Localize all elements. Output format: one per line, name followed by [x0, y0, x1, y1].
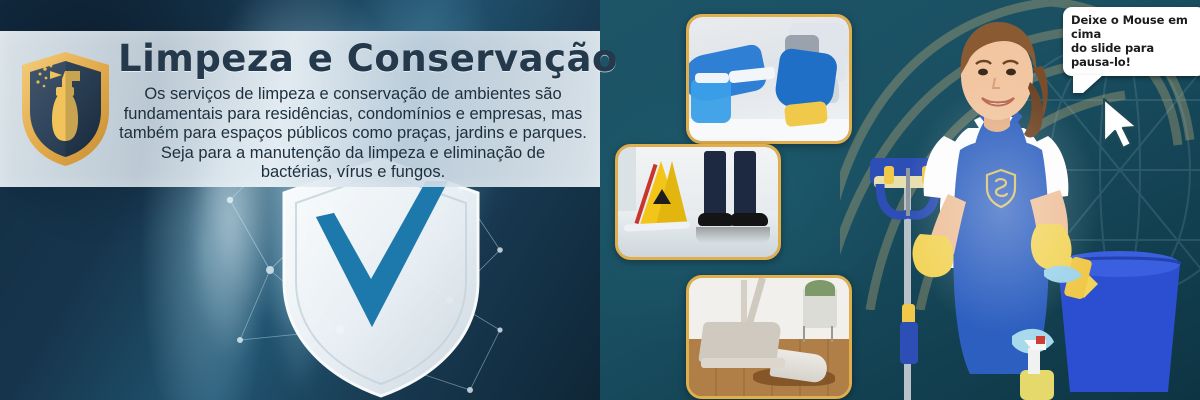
desc-line-1: Os serviços de limpeza e conservação de … [118, 85, 588, 105]
desc-line-4: Seja para a manutenção da limpeza e elim… [118, 144, 588, 164]
desc-line-5: bactérias, vírus e fungos. [118, 163, 588, 183]
page-title: Limpeza e Conservação [118, 35, 588, 83]
panel-description: Os serviços de limpeza e conservação de … [118, 85, 588, 183]
mouse-pointer-icon [1098, 96, 1142, 152]
tooltip-tail [1073, 75, 1103, 93]
promo-slide-banner[interactable]: Limpeza e Conservação Os serviços de lim… [0, 0, 1200, 400]
thumb2-shoe-right [730, 213, 768, 226]
panel-text-block: Limpeza e Conservação Os serviços de lim… [118, 35, 588, 183]
thumb2-shoe-left [698, 213, 734, 226]
thumb3-dustpan [698, 322, 782, 362]
thumb1-yellow-cloth [784, 101, 828, 127]
shield-checkmark-icon [276, 155, 486, 400]
thumb1-spray-bottle [691, 79, 731, 123]
thumb2-leg-left [704, 151, 726, 217]
desc-line-3: também para espaços públicos como praças… [118, 124, 588, 144]
thumb3-plant-leaves [805, 280, 835, 296]
thumbnail-dustpan-broom[interactable] [686, 275, 852, 399]
thumb3-dustpan-lip [701, 358, 785, 368]
thumb2-warning-triangle-icon [653, 189, 671, 204]
thumb2-door [618, 147, 636, 219]
pause-hint-tooltip: Deixe o Mouse em cima do slide para paus… [1063, 7, 1200, 76]
thumbnail-gloves-spray[interactable] [686, 14, 852, 144]
thumb2-floor-reflection [696, 227, 770, 243]
tooltip-line-2: do slide para pausa-lo! [1071, 41, 1199, 69]
thumbnail-wet-floor-sign[interactable] [615, 144, 781, 260]
thumb2-leg-right [734, 151, 756, 217]
desc-line-2: fundamentais para residências, condomíni… [118, 105, 588, 125]
thumb3-plant-stand [803, 326, 833, 342]
tooltip-line-1: Deixe o Mouse em cima [1071, 13, 1199, 41]
thumb3-dustpan-stick [741, 280, 747, 328]
thumb1-bottle-cap [695, 73, 729, 83]
gold-shield-spray-bottle-icon [18, 49, 113, 169]
info-panel: Limpeza e Conservação Os serviços de lim… [0, 31, 600, 187]
